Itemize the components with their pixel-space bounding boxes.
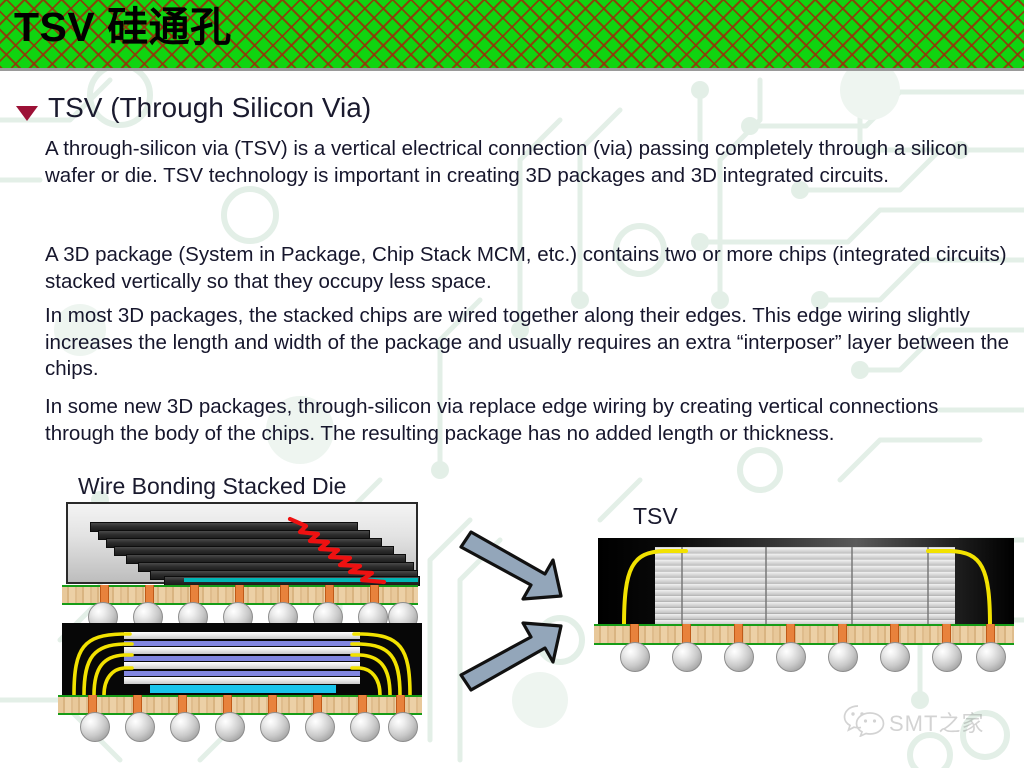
paragraph-edge-wiring: In most 3D packages, the stacked chips a… bbox=[45, 303, 1010, 383]
page-title: TSV 硅通孔 bbox=[14, 6, 232, 49]
solder-ball bbox=[305, 712, 335, 742]
figure-label-tsv: TSV bbox=[633, 503, 678, 530]
solder-ball bbox=[215, 712, 245, 742]
solder-ball bbox=[620, 642, 650, 672]
paragraph-definition: A through-silicon via (TSV) is a vertica… bbox=[45, 136, 1010, 189]
solder-ball bbox=[880, 642, 910, 672]
wirebond-red-wires bbox=[66, 502, 418, 588]
figure-tsv-package bbox=[598, 538, 1014, 668]
transition-arrows bbox=[455, 520, 620, 700]
section-heading: TSV (Through Silicon Via) bbox=[48, 92, 371, 124]
stack2-yellow-wires bbox=[62, 623, 422, 698]
solder-ball bbox=[125, 712, 155, 742]
triangle-down-icon bbox=[16, 106, 38, 121]
figure-label-wirebond: Wire Bonding Stacked Die bbox=[78, 473, 346, 500]
paragraph-3d-package: A 3D package (System in Package, Chip St… bbox=[45, 242, 1010, 295]
wechat-icon bbox=[843, 703, 885, 737]
solder-ball bbox=[350, 712, 380, 742]
solder-ball bbox=[170, 712, 200, 742]
solder-ball bbox=[776, 642, 806, 672]
watermark-logo: SMT之家 bbox=[843, 703, 1018, 743]
logo-text: SMT之家 bbox=[889, 706, 984, 738]
slide-header-bar: TSV 硅通孔 bbox=[0, 0, 1024, 71]
figure-stacked-die-wirebond-black bbox=[62, 623, 422, 743]
solder-ball bbox=[828, 642, 858, 672]
arrow-up-right-icon bbox=[461, 623, 561, 690]
slide-canvas: TSV 硅通孔 TSV (Through Silicon Via) A thro… bbox=[0, 0, 1024, 768]
tsv-yellow-wires bbox=[598, 538, 1014, 630]
figure-wirebond-stacked-die bbox=[66, 502, 418, 622]
solder-ball bbox=[976, 642, 1006, 672]
solder-ball bbox=[724, 642, 754, 672]
arrow-down-right-icon bbox=[461, 532, 561, 599]
paragraph-tsv-benefit: In some new 3D packages, through-silicon… bbox=[45, 394, 1010, 447]
solder-ball bbox=[932, 642, 962, 672]
solder-ball bbox=[672, 642, 702, 672]
solder-ball bbox=[80, 712, 110, 742]
solder-ball bbox=[260, 712, 290, 742]
bullet-heading-row: TSV (Through Silicon Via) bbox=[16, 94, 916, 128]
solder-ball bbox=[388, 712, 418, 742]
